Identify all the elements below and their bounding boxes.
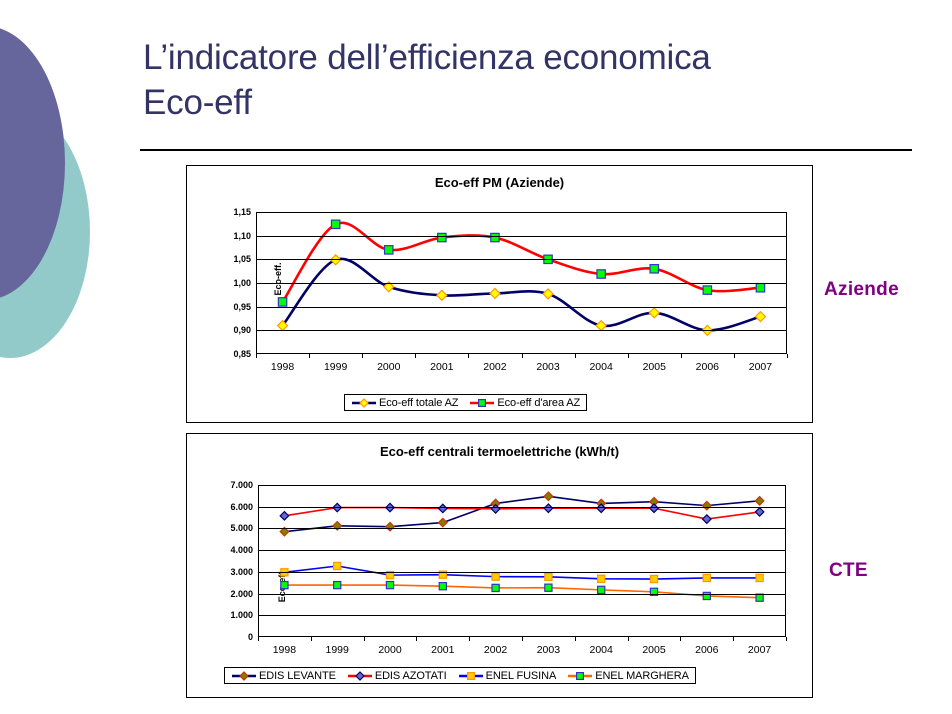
y-tick-label: 0,95 <box>233 302 251 312</box>
legend-label: EDIS LEVANTE <box>259 670 336 682</box>
x-tick-label: 1999 <box>326 644 349 656</box>
chart-title-cte: Eco-eff centrali termoelettriche (kWh/t) <box>187 444 812 459</box>
y-tick-label: 1,10 <box>233 231 251 241</box>
x-tick-label: 2005 <box>642 644 665 656</box>
y-tick-label: 3.000 <box>230 567 253 577</box>
x-tick-label: 2002 <box>484 644 507 656</box>
y-tick-label: 2.000 <box>230 589 253 599</box>
legend-item[interactable]: ENEL FUSINA <box>458 670 557 682</box>
title-divider <box>140 149 912 151</box>
x-axis-tick <box>256 354 257 358</box>
x-tick-label: 2001 <box>431 644 454 656</box>
chart-panel-cte[interactable]: Eco-eff centrali termoelettriche (kWh/t)… <box>186 433 813 698</box>
legend-swatch <box>231 670 257 682</box>
x-axis-tick <box>415 354 416 358</box>
legend-item[interactable]: EDIS LEVANTE <box>231 670 336 682</box>
legend-swatch <box>567 670 593 682</box>
x-axis-tick <box>258 637 259 641</box>
side-label-aziende: Aziende <box>824 279 899 301</box>
y-axis-title-cte: Eco-eff <box>277 559 287 615</box>
x-tick-label: 1998 <box>273 644 296 656</box>
gridline <box>258 507 786 508</box>
x-axis-tick <box>468 354 469 358</box>
x-axis-tick <box>362 354 363 358</box>
legend-label: Eco-eff d'area AZ <box>497 397 580 409</box>
legend-label: EDIS AZOTATI <box>375 670 447 682</box>
plot-frame <box>258 485 786 637</box>
x-axis-tick <box>787 354 788 358</box>
y-tick-label: 4.000 <box>230 545 253 555</box>
legend-item[interactable]: Eco-eff d'area AZ <box>469 397 580 409</box>
y-tick-label: 5.000 <box>230 523 253 533</box>
x-tick-label: 2004 <box>589 361 612 373</box>
y-tick-label: 0,85 <box>233 349 251 359</box>
x-axis-tick <box>575 354 576 358</box>
gridline <box>256 259 787 260</box>
legend-item[interactable]: ENEL MARGHERA <box>567 670 689 682</box>
legend-label: ENEL MARGHERA <box>595 670 689 682</box>
y-tick-label: 6.000 <box>230 502 253 512</box>
legend-swatch <box>347 670 373 682</box>
gridline <box>258 528 786 529</box>
x-axis-tick <box>681 354 682 358</box>
x-axis-tick <box>309 354 310 358</box>
x-tick-label: 2003 <box>536 361 559 373</box>
x-axis-tick <box>786 637 787 641</box>
x-axis-tick <box>469 637 470 641</box>
x-axis-tick <box>522 354 523 358</box>
legend-item[interactable]: Eco-eff totale AZ <box>351 397 458 409</box>
chart-title-aziende: Eco-eff PM (Aziende) <box>187 175 812 190</box>
page-title: L’indicatore dell’efficienza economica E… <box>143 35 903 125</box>
gridline <box>256 307 787 308</box>
x-tick-label: 2003 <box>537 644 560 656</box>
y-tick-label: 1,15 <box>233 207 251 217</box>
legend-swatch <box>351 397 377 409</box>
x-axis-tick <box>416 637 417 641</box>
chart-legend-cte[interactable]: EDIS LEVANTEEDIS AZOTATIENEL FUSINAENEL … <box>224 667 696 684</box>
y-tick-label: 0 <box>248 632 253 642</box>
chart-legend-aziende[interactable]: Eco-eff totale AZEco-eff d'area AZ <box>344 394 587 411</box>
gridline <box>256 283 787 284</box>
x-tick-label: 2002 <box>483 361 506 373</box>
x-axis-tick <box>733 637 734 641</box>
x-tick-label: 2001 <box>430 361 453 373</box>
side-label-cte: CTE <box>829 560 868 582</box>
x-axis-tick <box>575 637 576 641</box>
x-axis-tick <box>734 354 735 358</box>
gridline <box>258 550 786 551</box>
y-tick-label: 7.000 <box>230 480 253 490</box>
y-tick-label: 1,05 <box>233 254 251 264</box>
x-tick-label: 1998 <box>271 361 294 373</box>
x-axis-tick <box>628 354 629 358</box>
x-tick-label: 2004 <box>590 644 613 656</box>
legend-label: Eco-eff totale AZ <box>379 397 458 409</box>
y-tick-label: 1,00 <box>233 278 251 288</box>
plot-area-aziende: Eco-eff. 0,850,900,951,001,051,101,15199… <box>256 212 787 354</box>
legend-item[interactable]: EDIS AZOTATI <box>347 670 447 682</box>
x-axis-tick <box>311 637 312 641</box>
legend-swatch <box>458 670 484 682</box>
x-axis-tick <box>522 637 523 641</box>
x-axis-tick <box>628 637 629 641</box>
gridline <box>258 615 786 616</box>
legend-label: ENEL FUSINA <box>486 670 557 682</box>
gridline <box>256 236 787 237</box>
x-tick-label: 2005 <box>643 361 666 373</box>
gridline <box>258 594 786 595</box>
legend-swatch <box>469 397 495 409</box>
chart-panel-aziende[interactable]: Eco-eff PM (Aziende) Eco-eff. 0,850,900,… <box>186 165 813 423</box>
y-tick-label: 1.000 <box>230 610 253 620</box>
plot-area-cte: Eco-eff 01.0002.0003.0004.0005.0006.0007… <box>258 485 786 637</box>
x-tick-label: 2007 <box>749 361 772 373</box>
x-axis-tick <box>364 637 365 641</box>
x-tick-label: 2007 <box>748 644 771 656</box>
x-tick-label: 2000 <box>378 644 401 656</box>
y-tick-label: 0,90 <box>233 325 251 335</box>
gridline <box>256 330 787 331</box>
x-tick-label: 1999 <box>324 361 347 373</box>
x-tick-label: 2006 <box>695 644 718 656</box>
gridline <box>258 572 786 573</box>
x-tick-label: 2006 <box>696 361 719 373</box>
x-tick-label: 2000 <box>377 361 400 373</box>
x-axis-tick <box>680 637 681 641</box>
